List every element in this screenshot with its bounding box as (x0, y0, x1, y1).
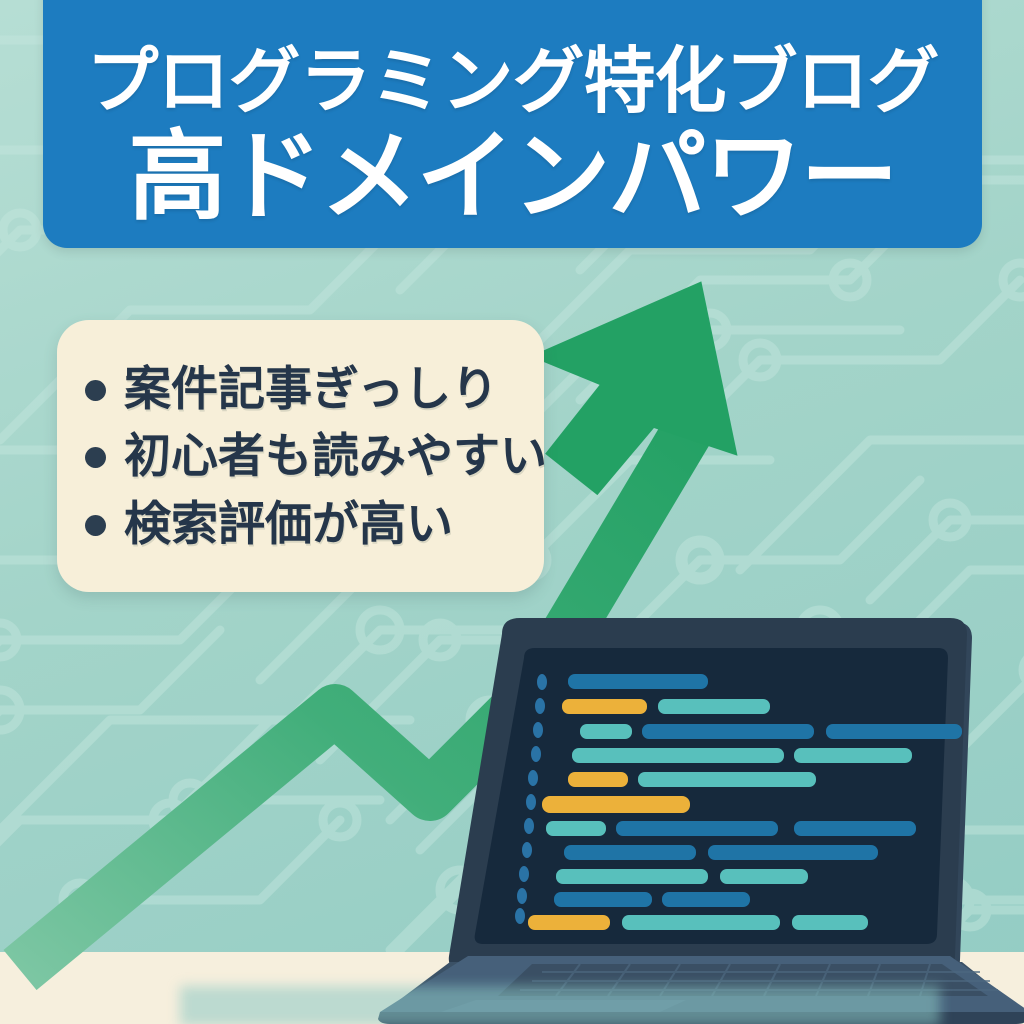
list-item-label: 初心者も読みやすい (124, 428, 547, 483)
header-banner: プログラミング特化ブログ 高ドメインパワー (43, 0, 982, 248)
feature-list-card: 案件記事ぎっしり 初心者も読みやすい 検索評価が高い (57, 320, 544, 592)
poster-canvas: プログラミング特化ブログ 高ドメインパワー 案件記事ぎっしり 初心者も読みやすい… (0, 0, 1024, 1024)
list-item: 案件記事ぎっしり (85, 361, 544, 416)
list-item-label: 案件記事ぎっしり (124, 361, 498, 416)
laptop-icon (150, 600, 1024, 1024)
banner-headline-primary: プログラミング特化ブログ (86, 46, 938, 118)
bullet-dot-icon (85, 380, 106, 401)
list-item-label: 検索評価が高い (124, 496, 453, 551)
bullet-dot-icon (85, 515, 106, 536)
bullet-dot-icon (85, 447, 106, 468)
banner-headline-secondary: 高ドメインパワー (128, 122, 896, 232)
laptop-shadow (180, 986, 940, 1024)
list-item: 検索評価が高い (85, 496, 544, 551)
list-item: 初心者も読みやすい (85, 428, 544, 483)
